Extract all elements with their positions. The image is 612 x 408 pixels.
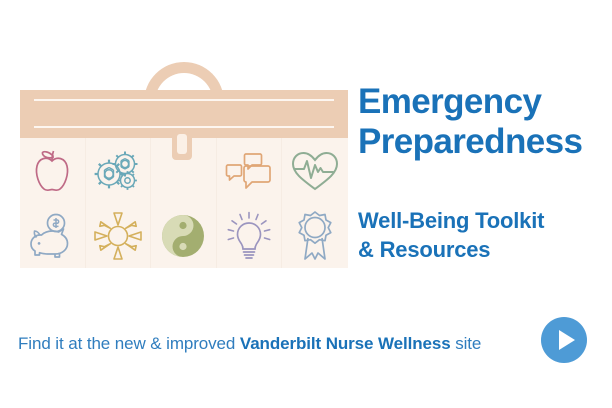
gears-icon [94,149,142,193]
footer-brand-text: Vanderbilt Nurse Wellness [240,334,451,353]
piggy-bank-icon [26,213,78,259]
footer-callout: Find it at the new & improved Vanderbilt… [18,322,594,366]
toolbox-lid-line-top [34,99,334,101]
award-ribbon-icon [292,210,338,262]
apple-icon [30,148,74,194]
toolbox-graphic [20,62,348,270]
light-bulb-icon [225,211,273,261]
title-line-2: Preparedness [358,122,610,162]
subtitle-line-2: & Resources [358,235,610,264]
toolbox-cell-apple [20,138,86,203]
toolbox-cell-sun [86,203,152,268]
sun-icon [93,211,143,261]
footer-text: Find it at the new & improved Vanderbilt… [18,334,481,354]
page-title: Emergency Preparedness [358,82,610,162]
toolbox-cell-piggy-bank [20,203,86,268]
title-line-1: Emergency [358,82,610,122]
toolbox-latch [172,128,192,160]
footer-trail-text: site [451,334,482,353]
toolbox-cell-light-bulb [217,203,283,268]
toolbox-cell-award-ribbon [282,203,348,268]
yin-yang-icon [160,213,206,259]
footer-lead-text: Find it at the new & improved [18,334,240,353]
page-subtitle: Well-Being Toolkit & Resources [358,206,610,264]
toolbox-cell-gears [86,138,152,203]
poster-canvas: Emergency Preparedness Well-Being Toolki… [0,0,612,408]
toolbox-cell-yin-yang [151,203,217,268]
speech-bubbles-icon [224,151,274,191]
play-button[interactable] [540,316,588,364]
toolbox-latch-inner [177,134,187,154]
subtitle-line-1: Well-Being Toolkit [358,206,610,235]
toolbox-cell-speech [217,138,283,203]
heart-pulse-icon [290,149,340,193]
toolbox-cell-heart [282,138,348,203]
